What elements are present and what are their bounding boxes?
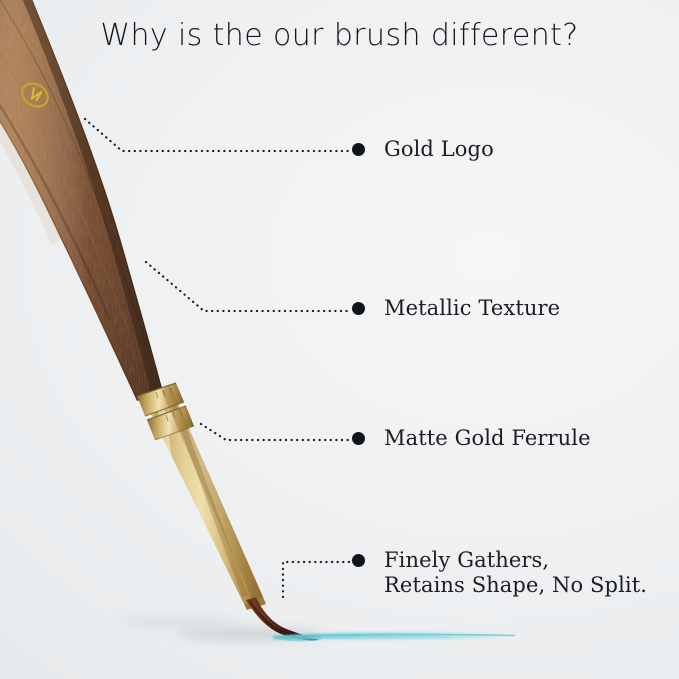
bullet-dot-icon [352, 554, 365, 567]
bullet-dot-icon [352, 432, 365, 445]
callout-label-finely-gathers: Finely Gathers, Retains Shape, No Split. [384, 548, 647, 598]
leader-line-metallic-texture [146, 262, 351, 311]
leader-line-gold-logo [85, 119, 351, 151]
callout-label-gold-logo: Gold Logo [384, 137, 494, 162]
callout-gold-logo: Gold Logo [352, 137, 494, 162]
callout-label-metallic-texture: Metallic Texture [384, 296, 560, 321]
bullet-dot-icon [352, 143, 365, 156]
page-title: Why is the our brush different? [0, 18, 679, 53]
callout-label-matte-gold-ferrule: Matte Gold Ferrule [384, 426, 591, 451]
callout-metallic-texture: Metallic Texture [352, 296, 560, 321]
callout-finely-gathers: Finely Gathers, Retains Shape, No Split. [352, 548, 647, 598]
leader-line-finely-gathers [283, 562, 351, 597]
callout-matte-gold-ferrule: Matte Gold Ferrule [352, 426, 591, 451]
leader-line-matte-gold-ferrule [201, 424, 351, 440]
bullet-dot-icon [352, 302, 365, 315]
product-feature-infographic: Why is the our brush different? Gold Log… [0, 0, 679, 679]
